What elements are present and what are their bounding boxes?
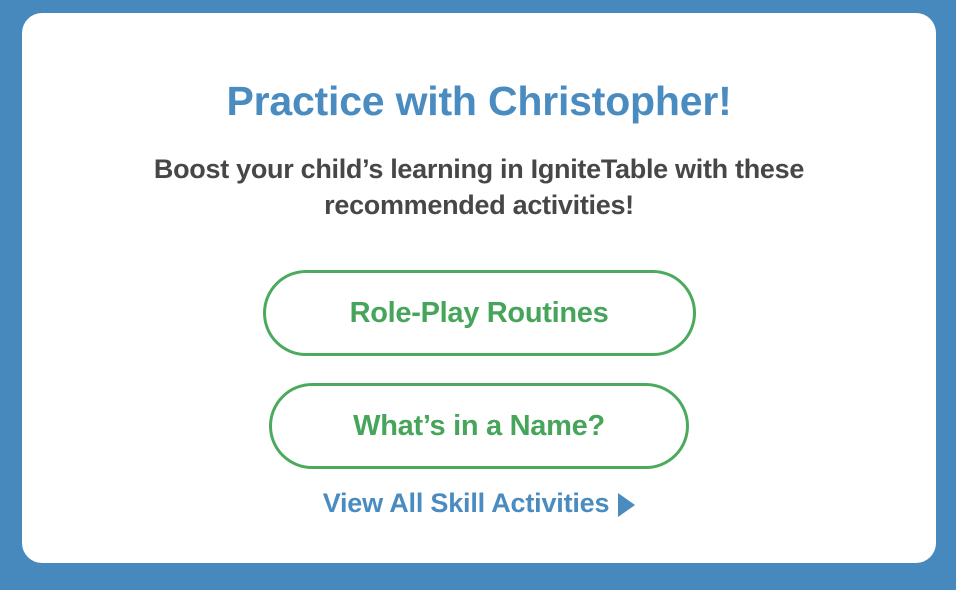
list-item: Role-Play Routines <box>22 270 936 356</box>
view-all-skill-activities-link[interactable]: View All Skill Activities <box>323 488 636 519</box>
page-title: Practice with Christopher! <box>226 81 731 122</box>
caret-right-icon <box>618 493 635 517</box>
card-subtitle: Boost your child’s learning in IgniteTab… <box>79 152 879 223</box>
list-item: What’s in a Name? <box>22 383 936 469</box>
view-all-label: View All Skill Activities <box>323 488 610 519</box>
activity-list: Role-Play Routines What’s in a Name? <box>22 223 936 469</box>
practice-card: Practice with Christopher! Boost your ch… <box>22 13 936 563</box>
activity-button-whats-in-a-name[interactable]: What’s in a Name? <box>269 383 689 469</box>
activity-button-role-play-routines[interactable]: Role-Play Routines <box>263 270 696 356</box>
